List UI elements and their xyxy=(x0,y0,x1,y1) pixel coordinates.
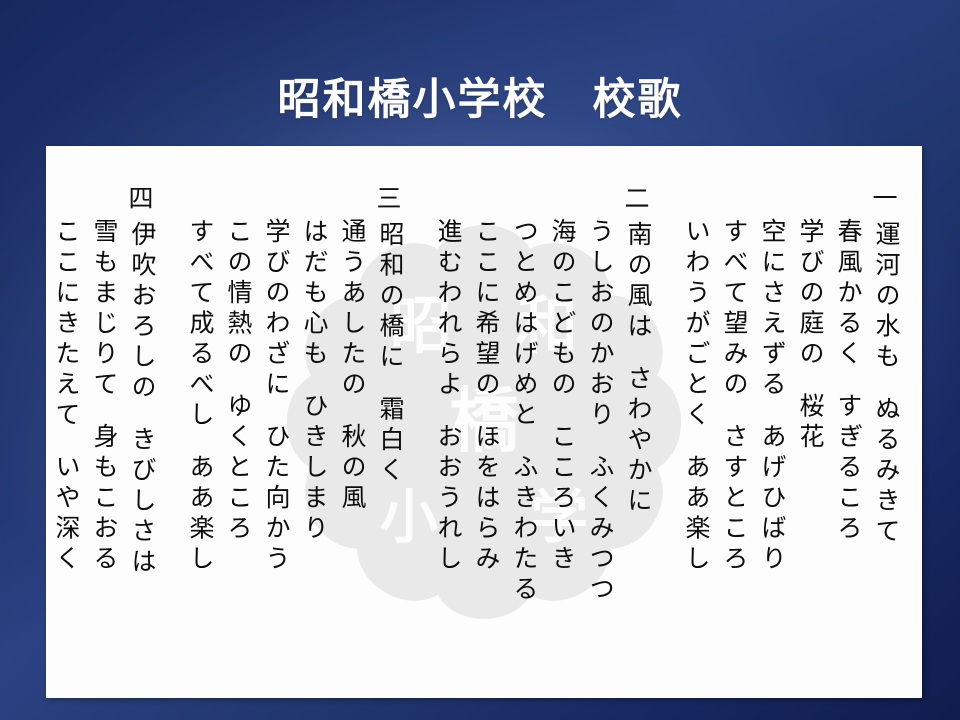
verse-number: 三 xyxy=(370,176,408,215)
verse-line: この情熱のゆくところ xyxy=(218,176,256,646)
verse-block: 四伊吹おろしのきびしさは雪もまじりて身もこおるここにきたえていや深くわがたましい… xyxy=(46,176,160,646)
line-part-a: ここにきたえて xyxy=(52,218,81,432)
line-part-a: この情熱の xyxy=(224,218,253,371)
verse-first-column: 二南の風はさわやかに xyxy=(618,176,656,518)
verse-first-column: 三昭和の橋に霜白く xyxy=(370,176,408,487)
verse-block: 一運河の水もぬるみきて春風かるくすぎるころ学びの庭の桜花空にさえずるあげひばりす… xyxy=(676,176,904,646)
line-part-a: 伊吹おろしの xyxy=(128,221,157,404)
line-part-b: こころいき xyxy=(548,423,577,576)
line-part-b: 秋の風 xyxy=(338,423,367,515)
line-part-a: つとめはげめと xyxy=(510,218,539,432)
verse-first-column: 四伊吹おろしのきびしさは xyxy=(122,176,160,579)
line-part-b: 桜花 xyxy=(796,393,825,454)
line-part-b: すぎるころ xyxy=(834,393,863,546)
verse-line: 昭和の橋に霜白く xyxy=(370,221,408,487)
line-part-a: 昭和の橋に xyxy=(376,221,405,374)
verse-lines: 一運河の水もぬるみきて春風かるくすぎるころ学びの庭の桜花空にさえずるあげひばりす… xyxy=(676,176,904,646)
verse-line: つとめはげめとふきわたる xyxy=(504,176,542,646)
verse-line: すべて望みのさすところ xyxy=(714,176,752,646)
slide-canvas: 昭和橋小学校 校歌 xyxy=(0,0,960,720)
verse-block: 二南の風はさわやかにうしおのかおりふくみつつ海のこどものこころいきつとめはげめと… xyxy=(428,176,656,646)
line-part-b: ひた向かう xyxy=(262,423,291,576)
verses-container: 一運河の水もぬるみきて春風かるくすぎるころ学びの庭の桜花空にさえずるあげひばりす… xyxy=(46,146,922,698)
verse-lines: 二南の風はさわやかにうしおのかおりふくみつつ海のこどものこころいきつとめはげめと… xyxy=(428,176,656,646)
verse-block: 三昭和の橋に霜白く通うあしたの秋の風はだも心もひきしまり学びのわざにひた向かうこ… xyxy=(180,176,408,646)
line-part-a: 進むわれらよ xyxy=(434,218,463,401)
line-part-a: 春風かるく xyxy=(834,218,863,371)
line-part-b: あげひばり xyxy=(758,423,787,576)
line-part-b: 霜白く xyxy=(376,396,405,488)
page-title: 昭和橋小学校 校歌 xyxy=(0,78,960,123)
line-part-a: はだも心も xyxy=(300,218,329,371)
line-part-a: 通うあしたの xyxy=(338,218,367,401)
verse-line: はだも心もひきしまり xyxy=(294,176,332,646)
verse-number: 二 xyxy=(618,176,656,215)
line-part-b: さすところ xyxy=(720,423,749,576)
verse-number: 四 xyxy=(122,176,160,215)
line-part-a: ここに希望の xyxy=(472,218,501,401)
line-part-a: すべて望みの xyxy=(720,218,749,401)
verse-line: 春風かるくすぎるころ xyxy=(828,176,866,646)
verse-line: いわうがごとくああ楽し xyxy=(676,176,714,646)
verse-line: すべて成るべしああ楽し xyxy=(180,176,218,646)
verse-line: 進むわれらよおおうれし xyxy=(428,176,466,646)
line-part-a: 海のこどもの xyxy=(548,218,577,401)
line-part-b: ああ楽し xyxy=(682,454,711,576)
line-part-a: うしおのかおり xyxy=(586,218,615,432)
line-part-b: ゆくところ xyxy=(224,393,253,546)
line-part-a: 学びのわざに xyxy=(262,218,291,401)
line-part-b: ほをはらみ xyxy=(472,423,501,576)
line-part-a: すべて成るべし xyxy=(186,218,215,432)
line-part-a: 学びの庭の xyxy=(796,218,825,371)
verse-line: ここに希望のほをはらみ xyxy=(466,176,504,646)
line-part-b: ひきしまり xyxy=(300,393,329,546)
verse-number: 一 xyxy=(866,176,904,215)
line-part-b: ああ楽し xyxy=(186,454,215,576)
verse-line: 南の風はさわやかに xyxy=(618,221,656,518)
line-part-b: ふくみつつ xyxy=(586,454,615,607)
verse-line: 学びの庭の桜花 xyxy=(790,176,828,646)
line-part-b: 身もこおる xyxy=(90,423,119,576)
line-part-a: 南の風は xyxy=(624,221,653,343)
verse-line: うしおのかおりふくみつつ xyxy=(580,176,618,646)
line-part-b: いや深く xyxy=(52,454,81,576)
line-part-a: 雪もまじりて xyxy=(90,218,119,401)
line-part-a: 空にさえずる xyxy=(758,218,787,401)
lyrics-panel: 昭 和 橋 小 学 一運河の水もぬるみきて春風かるくすぎるころ学びの庭の桜花空に… xyxy=(46,146,922,698)
line-part-b: さわやかに xyxy=(624,365,653,518)
line-part-b: ふきわたる xyxy=(510,454,539,607)
line-part-b: おおうれし xyxy=(434,423,463,576)
verse-line: 学びのわざにひた向かう xyxy=(256,176,294,646)
verse-line: 伊吹おろしのきびしさは xyxy=(122,221,160,579)
verse-line: 運河の水もぬるみきて xyxy=(866,221,904,548)
verse-lines: 三昭和の橋に霜白く通うあしたの秋の風はだも心もひきしまり学びのわざにひた向かうこ… xyxy=(180,176,408,646)
line-part-b: ぬるみきて xyxy=(872,396,901,549)
verse-line: 海のこどものこころいき xyxy=(542,176,580,646)
line-part-b: きびしさは xyxy=(128,426,157,579)
verse-line: 空にさえずるあげひばり xyxy=(752,176,790,646)
verse-first-column: 一運河の水もぬるみきて xyxy=(866,176,904,548)
verse-line: 雪もまじりて身もこおる xyxy=(84,176,122,646)
line-part-a: 運河の水も xyxy=(872,221,901,374)
verse-line: ここにきたえていや深く xyxy=(46,176,84,646)
verse-lines: 四伊吹おろしのきびしさは雪もまじりて身もこおるここにきたえていや深くわがたましい… xyxy=(46,176,160,646)
verse-line: 通うあしたの秋の風 xyxy=(332,176,370,646)
line-part-a: いわうがごとく xyxy=(682,218,711,432)
